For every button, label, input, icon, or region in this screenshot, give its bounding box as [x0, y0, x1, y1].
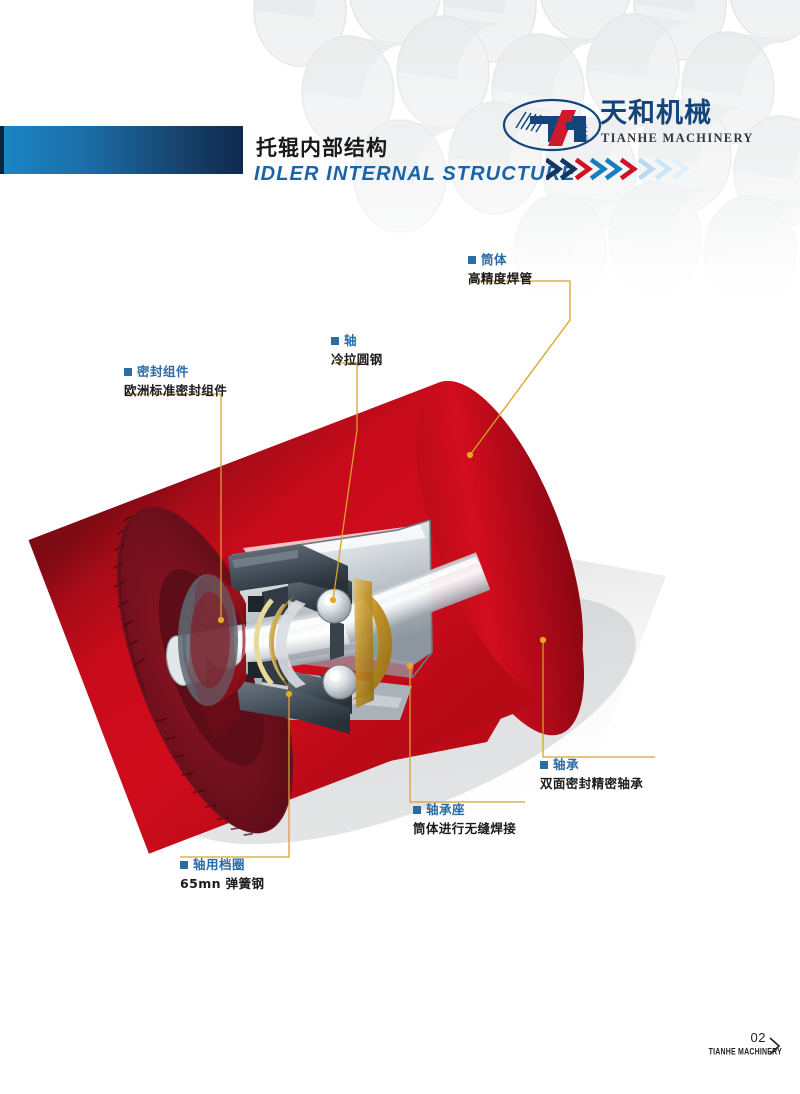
callout-bearing: 轴承 双面密封精密轴承: [540, 757, 643, 793]
callout-retaining-ring-desc: 65mn 弹簧钢: [180, 876, 264, 893]
square-bullet-icon: [331, 337, 339, 345]
page-title-cn: 托辊内部结构: [256, 138, 388, 159]
header-blue-band: [0, 126, 243, 174]
svg-text:和: 和: [580, 134, 588, 143]
callout-shell-desc: 高精度焊管: [468, 271, 533, 288]
callout-bearing-seat-title: 轴承座: [413, 802, 516, 819]
company-name-cn: 天和机械: [600, 100, 712, 127]
square-bullet-icon: [540, 761, 548, 769]
header-band-edge: [0, 126, 4, 174]
callout-bearing-desc: 双面密封精密轴承: [540, 776, 643, 793]
callout-shell: 筒体 高精度焊管: [468, 252, 533, 288]
callout-seal-assembly-desc: 欧洲标准密封组件: [124, 383, 227, 400]
callout-shaft-title: 轴: [331, 333, 383, 350]
footer-page-number: 02: [751, 1031, 766, 1044]
company-name-en: TIANHE MACHINERY: [601, 132, 754, 145]
callout-shaft-desc: 冷拉圆钢: [331, 352, 383, 369]
page-title-en: IDLER INTERNAL STRUCTURE: [254, 164, 576, 184]
square-bullet-icon: [180, 861, 188, 869]
callout-retaining-ring: 轴用档圈 65mn 弹簧钢: [180, 857, 264, 893]
svg-text:天: 天: [580, 124, 588, 133]
callout-shell-title: 筒体: [468, 252, 533, 269]
square-bullet-icon: [468, 256, 476, 264]
callout-seal-assembly-title: 密封组件: [124, 364, 227, 381]
idler-cutaway-illustration: [0, 200, 800, 1000]
callout-seal-assembly: 密封组件 欧洲标准密封组件: [124, 364, 227, 400]
footer-chevron-icon: [768, 1036, 782, 1056]
chevron-arrows-icon: [546, 157, 736, 181]
square-bullet-icon: [413, 806, 421, 814]
callout-bearing-seat-desc: 筒体进行无缝焊接: [413, 821, 516, 838]
callout-shaft: 轴 冷拉圆钢: [331, 333, 383, 369]
callout-bearing-title: 轴承: [540, 757, 643, 774]
brochure-page: 托辊内部结构 IDLER INTERNAL STRUCTURE: [0, 0, 800, 1094]
callout-retaining-ring-title: 轴用档圈: [180, 857, 264, 874]
callout-bearing-seat: 轴承座 筒体进行无缝焊接: [413, 802, 516, 838]
page-header: 托辊内部结构 IDLER INTERNAL STRUCTURE: [0, 0, 800, 200]
square-bullet-icon: [124, 368, 132, 376]
page-footer: TIANHE MACHINERY 02: [709, 1050, 782, 1058]
